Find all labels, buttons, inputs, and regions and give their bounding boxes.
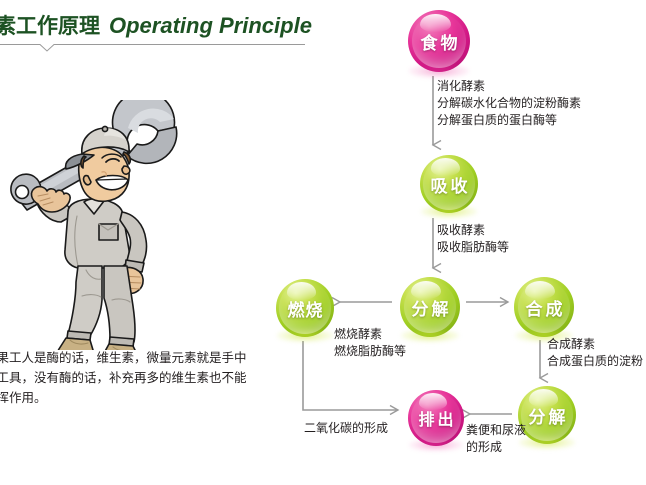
node-absorb[interactable]: 吸收 bbox=[420, 155, 478, 213]
note-line: 消化酵素 bbox=[437, 78, 581, 95]
node-food[interactable]: 食物 bbox=[408, 10, 470, 72]
infographic-canvas: 酵素工作原理Operating Principle bbox=[0, 0, 646, 485]
note-digestive-enzymes: 消化酵素 分解碳水化合物的淀粉酶素 分解蛋白质的蛋白酶等 bbox=[437, 78, 581, 129]
note-line: 吸收脂肪酶等 bbox=[437, 239, 509, 256]
note-burning-enzymes: 燃烧酵素 燃烧脂肪酶等 bbox=[334, 326, 406, 360]
node-excrete[interactable]: 排出 bbox=[408, 390, 464, 446]
node-burn[interactable]: 燃烧 bbox=[276, 279, 334, 337]
note-feces-urine-formation: 粪便和尿液 的形成 bbox=[466, 422, 526, 456]
note-absorption-enzymes: 吸收酵素 吸收脂肪酶等 bbox=[437, 222, 509, 256]
node-synthesis-label: 合成 bbox=[523, 295, 566, 320]
node-burn-label: 燃烧 bbox=[287, 296, 324, 321]
note-line: 的形成 bbox=[466, 439, 526, 456]
node-excrete-label: 排出 bbox=[415, 406, 456, 430]
flow-diagram: 食物 吸收 燃烧 分解 合成 bbox=[0, 0, 646, 485]
note-synthesis-enzymes: 合成酵素 合成蛋白质的淀粉 bbox=[547, 336, 643, 370]
note-line: 分解蛋白质的蛋白酶等 bbox=[437, 112, 581, 129]
note-line: 燃烧脂肪酶等 bbox=[334, 343, 406, 360]
note-co2-formation: 二氧化碳的形成 bbox=[304, 420, 388, 437]
note-line: 粪便和尿液 bbox=[466, 422, 526, 439]
note-line: 二氧化碳的形成 bbox=[304, 420, 388, 437]
note-line: 燃烧酵素 bbox=[334, 326, 406, 343]
note-line: 吸收酵素 bbox=[437, 222, 509, 239]
node-food-label: 食物 bbox=[418, 29, 461, 54]
node-synthesis[interactable]: 合成 bbox=[514, 277, 574, 337]
node-decompose-primary-label: 分解 bbox=[409, 295, 452, 320]
node-decompose-primary[interactable]: 分解 bbox=[400, 277, 460, 337]
note-line: 分解碳水化合物的淀粉酶素 bbox=[437, 95, 581, 112]
note-line: 合成蛋白质的淀粉 bbox=[547, 353, 643, 370]
node-decompose-secondary[interactable]: 分解 bbox=[518, 386, 576, 444]
note-line: 合成酵素 bbox=[547, 336, 643, 353]
node-decompose-secondary-label: 分解 bbox=[526, 403, 569, 428]
node-absorb-label: 吸收 bbox=[428, 172, 471, 197]
